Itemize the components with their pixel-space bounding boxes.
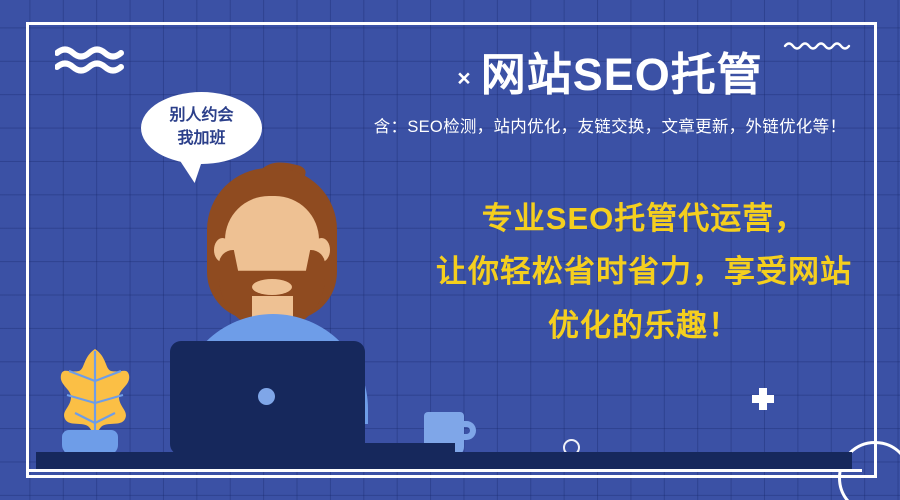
mouth [252, 279, 292, 295]
desk-surface [36, 452, 852, 470]
frame-bottom-border [26, 475, 877, 478]
promo-copy-line-1: 专业SEO托管代运营， [398, 192, 890, 245]
promo-copy: 专业SEO托管代运营， 让你轻松省时省力，享受网站 优化的乐趣！ [398, 192, 890, 352]
title-row: × 网站SEO托管 [330, 48, 890, 101]
laptop-logo-icon [258, 388, 275, 405]
desk-edge-highlight [26, 469, 862, 472]
promo-copy-line-2: 让你轻松省时省力，享受网站 [398, 245, 890, 298]
page-title: 网站SEO托管 [481, 48, 763, 101]
seo-hosting-banner: × 网站SEO托管 含：SEO检测，站内优化，友链交换，文章更新，外链优化等！ … [0, 0, 900, 500]
wave-lines-icon [55, 45, 125, 80]
title-bullet-icon: × [457, 59, 470, 90]
frame-left-border [26, 22, 29, 478]
page-subtitle: 含：SEO检测，站内优化，友链交换，文章更新，外链优化等！ [330, 113, 890, 137]
speech-bubble: 别人约会 我加班 [141, 92, 262, 164]
plus-icon [752, 388, 774, 410]
promo-copy-line-3: 优化的乐趣！ [398, 299, 890, 352]
headline-block: × 网站SEO托管 含：SEO检测，站内优化，友链交换，文章更新，外链优化等！ [330, 48, 890, 137]
speech-bubble-line-2: 我加班 [177, 128, 225, 151]
frame-top-border [26, 22, 877, 25]
speech-bubble-line-1: 别人约会 [169, 105, 233, 128]
